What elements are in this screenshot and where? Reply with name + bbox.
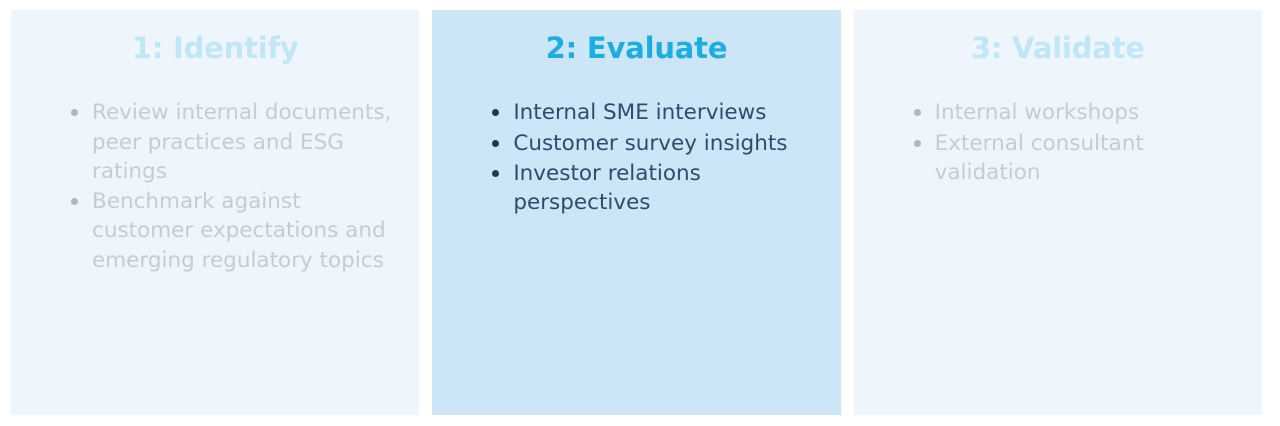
step-panel-title: 2: Evaluate	[458, 32, 814, 64]
step-panel-evaluate[interactable]: 2: Evaluate Internal SME interviews Cust…	[432, 10, 840, 415]
list-item: Internal SME interviews	[492, 98, 814, 127]
step-panel-identify[interactable]: 1: Identify Review internal documents, p…	[11, 10, 419, 415]
step-panel-validate[interactable]: 3: Validate Internal workshops External …	[854, 10, 1262, 415]
step-bullet-list: Internal workshops External consultant v…	[880, 98, 1236, 188]
list-item: External consultant validation	[914, 129, 1236, 187]
list-item: Investor relations perspectives	[492, 159, 814, 217]
step-panel-title: 1: Identify	[37, 32, 393, 64]
list-item: Review internal documents, peer practice…	[71, 98, 393, 186]
process-steps-board: 1: Identify Review internal documents, p…	[0, 0, 1280, 426]
list-item: Internal workshops	[914, 98, 1236, 127]
step-bullet-list: Review internal documents, peer practice…	[37, 98, 393, 275]
step-panel-title: 3: Validate	[880, 32, 1236, 64]
list-item: Customer survey insights	[492, 129, 814, 158]
step-bullet-list: Internal SME interviews Customer survey …	[458, 98, 814, 218]
list-item: Benchmark against customer expectations …	[71, 187, 393, 275]
